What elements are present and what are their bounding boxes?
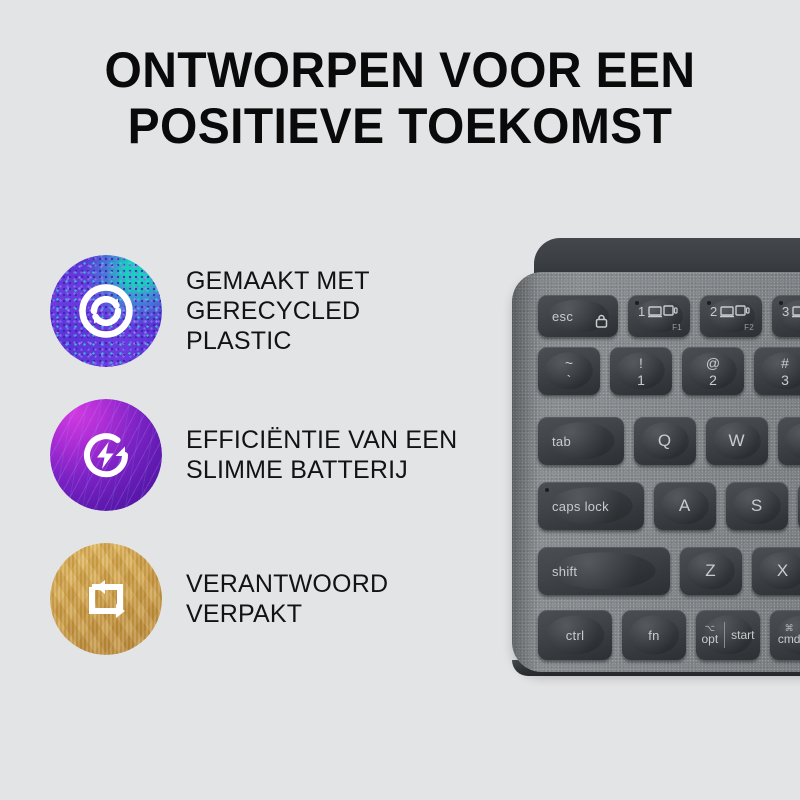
key-dish (553, 552, 656, 589)
key-caps-lock: caps lock (538, 482, 644, 530)
key-label: tab (552, 434, 571, 449)
device-switch-icon (720, 305, 750, 319)
device-switch-icon (792, 305, 800, 319)
key-1: ! 1 (610, 347, 672, 395)
product-feature-panel: ONTWORPEN VOOR EEN POSITIEVE TOEKOMST (0, 0, 800, 800)
feature-item-recycled-plastic: GEMAAKT MET GERECYCLED PLASTIC (50, 250, 480, 372)
key-symbol: @ (706, 355, 720, 371)
key-digit: 2 (710, 304, 717, 319)
key-symbol: ! (639, 355, 643, 371)
keyboard-back-edge (534, 238, 800, 284)
feature-item-smart-battery: EFFICIËNTIE VAN EEN SLIMME BATTERIJ (50, 394, 480, 516)
key-label: fn (648, 628, 659, 643)
key-base: 2 (709, 372, 717, 388)
feature-list: GEMAAKT MET GERECYCLED PLASTIC EFFICIËNT… (50, 250, 480, 682)
key-label: opt (701, 633, 718, 646)
key-dish (617, 352, 665, 389)
key-split-faces: ⌥ opt start (696, 622, 760, 648)
key-dish (550, 487, 633, 524)
recycle-circular-arrows-icon (50, 255, 162, 367)
key-digit-and-icon: 2 (710, 304, 750, 319)
feature-item-responsible-packaging: VERANTWOORD VERPAKT (50, 538, 480, 660)
key-dish (547, 422, 614, 459)
key-split-faces: ⌘ cmd alt (772, 622, 800, 648)
keyboard-top-plate: esc 1 (512, 272, 800, 672)
key-dish (661, 487, 709, 524)
device-switch-icon (648, 305, 678, 319)
caps-lock-led-indicator (545, 488, 549, 492)
key-fn-label: F2 (744, 323, 754, 332)
keyboard-edge-shadow (512, 272, 538, 672)
packaging-square-loop-icon (50, 543, 162, 655)
key-shift: shift (538, 547, 670, 595)
key-symbol: ~ (565, 355, 573, 371)
key-3: # 3 (754, 347, 800, 395)
key-symbol: # (781, 355, 789, 371)
key-dish (713, 422, 761, 459)
key-dish (785, 422, 800, 459)
battery-lightning-refresh-icon (50, 399, 162, 511)
key-digit: 3 (782, 304, 789, 319)
led-indicator (635, 301, 639, 305)
key-dish (687, 552, 735, 589)
key-face-start: start (725, 629, 760, 642)
key-dish (635, 300, 683, 333)
key-a: A (654, 482, 716, 530)
key-dish (546, 616, 604, 655)
key-w: W (706, 417, 768, 465)
key-base: 3 (781, 372, 789, 388)
key-label: start (731, 629, 754, 642)
key-s: S (726, 482, 788, 530)
key-opt-start: ⌥ opt start (696, 610, 760, 660)
key-label: W (728, 431, 745, 451)
key-label: Q (658, 431, 672, 451)
key-tab: tab (538, 417, 624, 465)
key-dish (629, 616, 679, 655)
key-z: Z (680, 547, 742, 595)
key-q: Q (634, 417, 696, 465)
key-base: 1 (637, 372, 645, 388)
key-label: S (751, 496, 763, 516)
key-dish (689, 352, 737, 389)
feature-label-recycled-plastic: GEMAAKT MET GERECYCLED PLASTIC (186, 266, 370, 356)
led-indicator (707, 301, 711, 305)
key-face-divider (724, 622, 725, 648)
key-dish (777, 616, 800, 655)
key-ctrl: ctrl (538, 610, 612, 660)
key-base: ` (567, 372, 572, 388)
key-dish (547, 300, 609, 333)
command-glyph-icon: ⌘ (785, 624, 794, 633)
key-dish (761, 352, 800, 389)
key-label: esc (552, 309, 573, 324)
key-e: E (778, 417, 800, 465)
key-label: ctrl (566, 628, 585, 643)
key-dish (641, 422, 689, 459)
key-fn-label: F1 (672, 323, 682, 332)
feature-badge-responsible-packaging (50, 543, 162, 655)
key-label: Z (705, 561, 716, 581)
key-fn: fn (622, 610, 686, 660)
key-f3: 3 F3 (772, 295, 800, 337)
key-label: X (777, 561, 789, 581)
feature-badge-smart-battery (50, 399, 162, 511)
key-dish (733, 487, 781, 524)
key-dish (759, 552, 800, 589)
key-label: cmd (778, 633, 800, 646)
feature-badge-recycled-plastic (50, 255, 162, 367)
led-indicator (779, 301, 783, 305)
key-f2: 2 F2 (700, 295, 762, 337)
key-digit: 1 (638, 304, 645, 319)
key-dish (707, 300, 755, 333)
key-label: shift (552, 564, 577, 579)
key-x: X (752, 547, 800, 595)
key-face-cmd: ⌘ cmd (772, 624, 800, 646)
key-dish (703, 616, 753, 655)
feature-label-responsible-packaging: VERANTWOORD VERPAKT (186, 569, 388, 629)
key-f1: 1 F1 (628, 295, 690, 337)
option-glyph-icon: ⌥ (705, 624, 715, 633)
key-face-opt: ⌥ opt (696, 624, 724, 646)
page-title: ONTWORPEN VOOR EEN POSITIEVE TOEKOMST (16, 42, 784, 154)
key-esc: esc (538, 295, 618, 337)
key-dish (545, 352, 593, 389)
key-tilde: ~ ` (538, 347, 600, 395)
key-digit-and-icon: 1 (638, 304, 678, 319)
key-label: A (679, 496, 691, 516)
key-dish (779, 300, 800, 333)
keyboard-plate-texture (512, 272, 800, 672)
feature-label-smart-battery: EFFICIËNTIE VAN EEN SLIMME BATTERIJ (186, 425, 457, 485)
key-label: caps lock (552, 499, 609, 514)
key-cmd-alt: ⌘ cmd alt (770, 610, 800, 660)
keyboard-bottom-edge (512, 660, 800, 676)
lock-icon (595, 314, 608, 331)
key-digit-and-icon: 3 (782, 304, 800, 319)
key-2: @ 2 (682, 347, 744, 395)
